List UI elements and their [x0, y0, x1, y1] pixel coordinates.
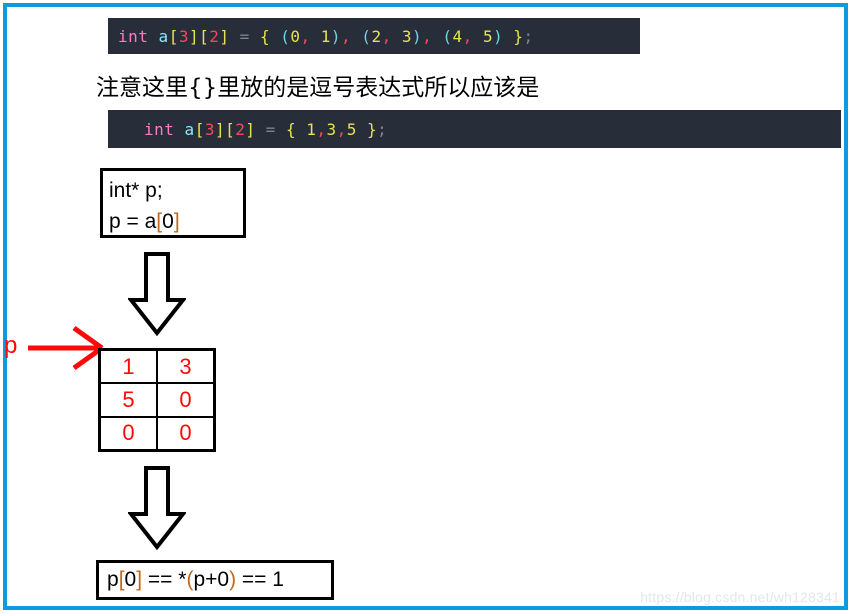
code2-identifier-a: a [185, 120, 195, 139]
decl-assign-expr: p = a [109, 210, 156, 233]
code1-comma-1: , [300, 27, 310, 46]
code2-bracket-close-1: ] [215, 120, 225, 139]
grid-cell-r2c0: 0 [101, 418, 156, 449]
pointer-label-p: p [4, 332, 17, 360]
code2-value-1: 1 [296, 120, 316, 139]
code2-bracket-close-2: ] [245, 120, 255, 139]
code1-dim-1: 3 [179, 27, 189, 46]
code2-comma-2: , [337, 120, 347, 139]
watermark: https://blog.csdn.net/wh128341 [640, 589, 840, 605]
code1-bracket-close-1: ] [189, 27, 199, 46]
grid-cell-r1c0: 5 [101, 384, 156, 415]
code2-brace-close: } [357, 120, 377, 139]
result-pointer: p [107, 568, 119, 592]
down-arrow-icon [128, 466, 186, 550]
code2-value-3: 3 [326, 120, 336, 139]
grid-cell-r0c0: 1 [101, 351, 156, 382]
code2-bracket-open-2: [ [225, 120, 235, 139]
result-index: 0 [125, 568, 137, 592]
code2-semicolon: ; [377, 120, 387, 139]
code2-space [174, 120, 184, 139]
down-arrow-to-grid [128, 252, 186, 341]
code-block-array-init-equivalent: int a[3][2] = { 1,3,5 }; [108, 110, 841, 148]
code1-brace-close: } [503, 27, 523, 46]
code1-semicolon: ; [523, 27, 533, 46]
grid-cell-r0c1: 3 [158, 351, 213, 382]
code1-comma-2: , [382, 27, 392, 46]
decl-index: 0 [162, 210, 174, 233]
decl-bracket-close: ] [174, 210, 180, 233]
code1-separator-1: , [341, 27, 351, 46]
code1-paren-open-2: ( [351, 27, 371, 46]
decl-line-2: p = a[0] [109, 206, 243, 237]
code1-separator-2: , [422, 27, 432, 46]
result-deref-expression: p+0 [193, 568, 229, 592]
code1-value-0: 0 [290, 27, 300, 46]
code2-dim-2: 2 [235, 120, 245, 139]
code1-dim-2: 2 [209, 27, 219, 46]
result-tail: == 1 [236, 568, 284, 592]
slide-canvas: int a[3][2] = { (0, 1), (2, 3), (4, 5) }… [0, 0, 856, 614]
code1-value-1: 1 [311, 27, 331, 46]
code-block-array-init-comma: int a[3][2] = { (0, 1), (2, 3), (4, 5) }… [108, 18, 640, 54]
code2-dim-1: 3 [205, 120, 215, 139]
code1-bracket-close-2: ] [219, 27, 229, 46]
code1-paren-close-3: ) [493, 27, 503, 46]
code2-keyword-int: int [144, 120, 174, 139]
code1-value-3: 3 [392, 27, 412, 46]
code1-space [148, 27, 158, 46]
result-paren-close: ) [229, 568, 236, 592]
pointer-declaration-box: int* p; p = a[0] [100, 168, 246, 238]
code1-paren-open-3: ( [432, 27, 452, 46]
code1-value-5: 5 [473, 27, 493, 46]
pointer-arrow-container [26, 326, 106, 375]
code1-assign-operator: = [230, 27, 260, 46]
explanation-note: 注意这里{}里放的是逗号表达式所以应该是 [96, 68, 539, 102]
grid-cell-r2c1: 0 [158, 418, 213, 449]
code1-value-2: 2 [371, 27, 381, 46]
code1-bracket-open-1: [ [169, 27, 179, 46]
code2-brace-open: { [286, 120, 296, 139]
code2-comma-1: , [316, 120, 326, 139]
code1-identifier-a: a [159, 27, 169, 46]
red-right-arrow-icon [26, 326, 106, 370]
result-expression-box: p[0] == *(p+0) == 1 [96, 560, 334, 600]
memory-grid: 1 3 5 0 0 0 [98, 348, 216, 452]
down-arrow-to-result [128, 466, 186, 555]
down-arrow-icon [128, 252, 186, 336]
code1-comma-3: , [463, 27, 473, 46]
code1-paren-close-2: ) [412, 27, 422, 46]
code1-bracket-open-2: [ [199, 27, 209, 46]
code1-value-4: 4 [453, 27, 463, 46]
code2-bracket-open-1: [ [195, 120, 205, 139]
result-paren-open: ( [186, 568, 193, 592]
grid-cell-r1c1: 0 [158, 384, 213, 415]
code1-paren-open-1: ( [270, 27, 290, 46]
code2-value-5: 5 [347, 120, 357, 139]
decl-line-1: int* p; [109, 175, 243, 206]
result-middle-operator: == * [142, 568, 186, 592]
code2-assign-operator: = [256, 120, 286, 139]
code1-paren-close-1: ) [331, 27, 341, 46]
code1-brace-open: { [260, 27, 270, 46]
code1-keyword-int: int [118, 27, 148, 46]
